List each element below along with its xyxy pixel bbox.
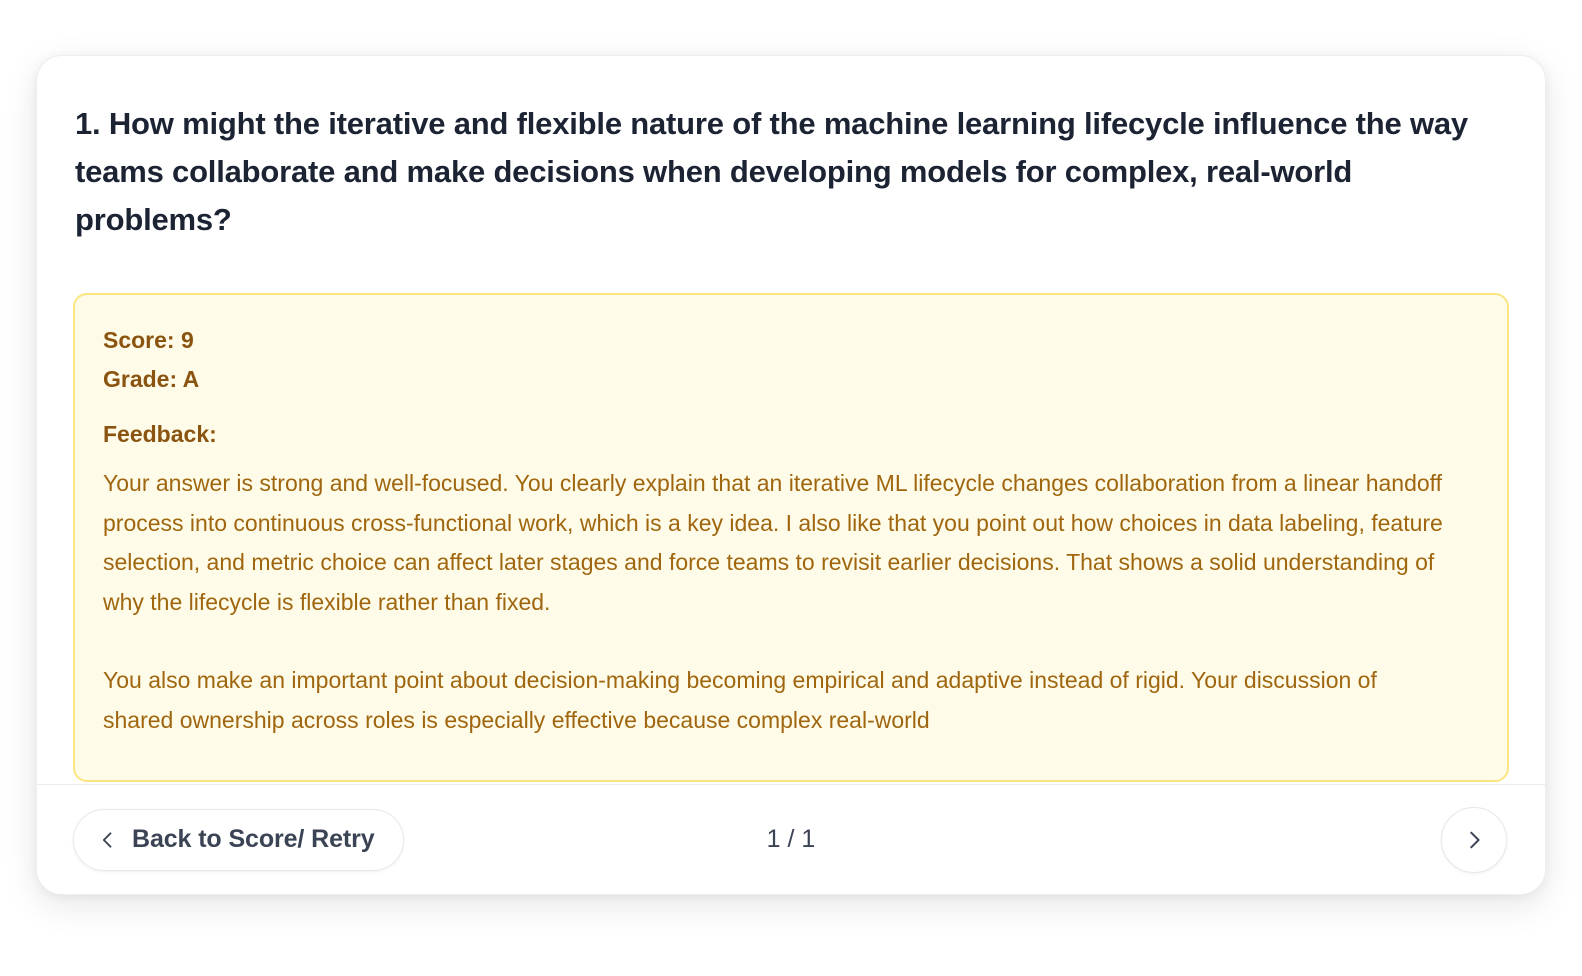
next-question-button[interactable]	[1441, 807, 1507, 873]
page-title: 1. How might the iterative and flexible …	[73, 100, 1503, 244]
chevron-left-icon	[98, 830, 118, 850]
app-root: 1. How might the iterative and flexible …	[0, 0, 1582, 976]
feedback-paragraph: Your answer is strong and well-focused. …	[103, 464, 1453, 622]
back-to-score-retry-button[interactable]: Back to Score/ Retry	[73, 809, 404, 871]
grade-line: Grade: A	[103, 360, 1479, 399]
card-footer: Back to Score/ Retry 1 / 1	[37, 784, 1545, 894]
feedback-panel: Score: 9 Grade: A Feedback: Your answer …	[73, 293, 1509, 782]
back-button-label: Back to Score/ Retry	[132, 825, 375, 854]
score-line: Score: 9	[103, 321, 1479, 360]
feedback-label: Feedback:	[103, 417, 1479, 451]
chevron-right-icon	[1463, 829, 1485, 851]
card-scroll-region[interactable]: 1. How might the iterative and flexible …	[37, 56, 1545, 784]
feedback-paragraph: You also make an important point about d…	[103, 661, 1453, 740]
question-card: 1. How might the iterative and flexible …	[36, 55, 1546, 895]
